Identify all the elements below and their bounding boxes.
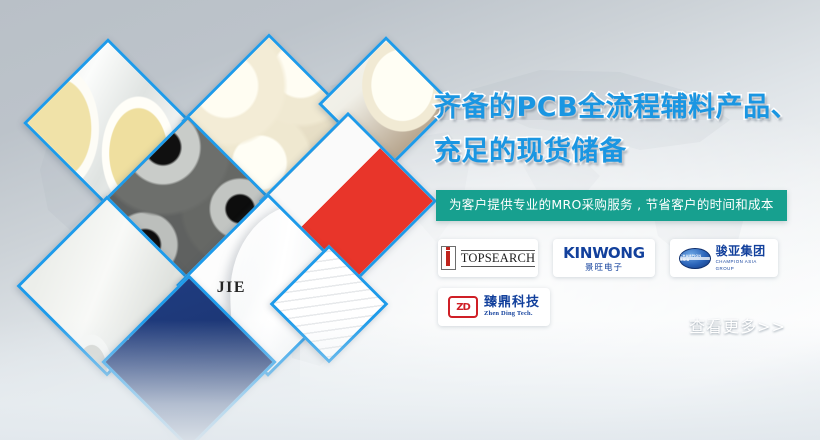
logo-row-1: TOPSEARCH KINWONG 景旺电子 CHAMPION ASIA 骏亚集…: [438, 239, 818, 277]
product-tile-grid: JIE: [0, 0, 430, 440]
globe-icon-text: CHAMPION ASIA: [680, 254, 710, 262]
logo-topsearch[interactable]: TOPSEARCH: [438, 239, 538, 277]
zhen-ding-wordmark-en: Zhen Ding Tech.: [484, 310, 540, 318]
logo-champion-asia[interactable]: CHAMPION ASIA 骏亚集团 CHAMPION ASIA GROUP: [670, 239, 778, 277]
banner-subtitle-bar: 为客户提供专业的MRO采购服务 , 节省客户的时间和成本: [436, 190, 787, 221]
topsearch-wordmark: TOPSEARCH: [461, 250, 536, 267]
champion-asia-wordmark-en: CHAMPION ASIA GROUP: [716, 258, 769, 272]
globe-icon: CHAMPION ASIA: [679, 248, 711, 269]
banner-content: 齐备的PCB全流程辅料产品、 充足的现货储备 为客户提供专业的MRO采购服务 ,…: [432, 0, 820, 440]
logo-kinwong[interactable]: KINWONG 景旺电子: [553, 239, 655, 277]
champion-asia-wordmark-cn: 骏亚集团: [716, 245, 769, 258]
kinwong-wordmark: KINWONG: [563, 245, 645, 261]
topsearch-mark-icon: [441, 246, 456, 270]
promo-banner: JIE 齐备的PCB全流程辅料产品、 充足的现货储备 为客户提供专业的MRO采购…: [0, 0, 820, 440]
kinwong-wordmark-part1: KIN: [563, 244, 592, 262]
zhen-ding-mark-icon: ZD: [448, 296, 478, 318]
logo-zhen-ding[interactable]: ZD 臻鼎科技 Zhen Ding Tech.: [438, 288, 550, 326]
banner-headline: 齐备的PCB全流程辅料产品、 充足的现货储备: [434, 86, 820, 174]
view-more-link[interactable]: 查看更多>>: [689, 313, 786, 337]
kinwong-subtitle-cn: 景旺电子: [585, 262, 623, 272]
kinwong-wordmark-part2: W: [592, 244, 608, 262]
zhen-ding-wordmark-cn: 臻鼎科技: [484, 296, 540, 310]
tile-caption-jie: JIE: [217, 280, 246, 297]
kinwong-wordmark-part3: ONG: [608, 244, 645, 262]
